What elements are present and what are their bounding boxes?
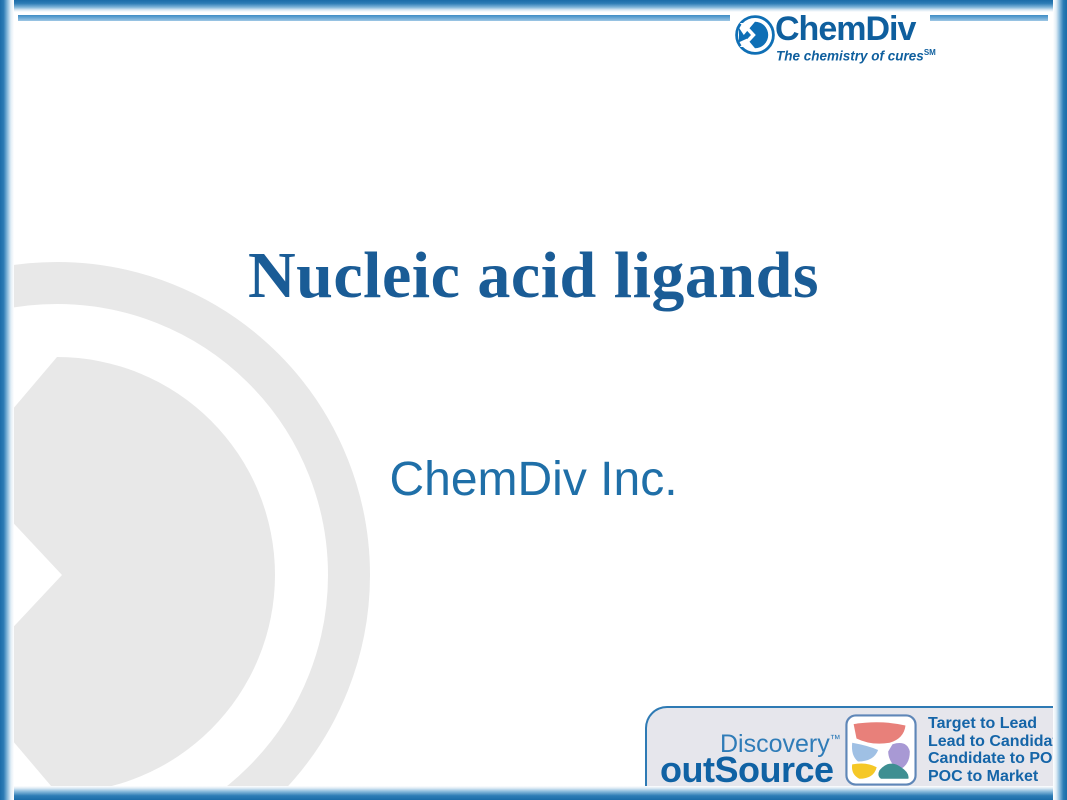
brand-service-mark: SM: [924, 48, 936, 57]
header-rule-left: [18, 15, 730, 21]
header-rule-right: [930, 15, 1048, 21]
phase-list: Target to Lead Lead to Candidate Candida…: [928, 715, 1067, 785]
phase-item: Candidate to POC: [928, 750, 1067, 768]
phase-item: POC to Market: [928, 768, 1067, 786]
discovery-trademark: ™: [830, 734, 841, 746]
phase-item: Lead to Candidate: [928, 733, 1067, 751]
mosaic-tiles-icon: [845, 714, 917, 786]
chemdiv-brand-logo: ChemDiv The chemistry of curesSM: [735, 12, 935, 68]
outsource-label: outSource: [660, 749, 834, 791]
discovery-outsource-banner: Discovery™ outSource Target to Lead Lead…: [645, 706, 1057, 788]
presentation-slide: ChemDiv The chemistry of curesSM Nucleic…: [0, 0, 1067, 800]
frame-top-edge: [0, 0, 1067, 12]
frame-bottom-edge: [0, 786, 1067, 800]
brand-tagline-text: The chemistry of cures: [776, 49, 924, 64]
slide-title: Nucleic acid ligands: [0, 238, 1067, 314]
chemdiv-logo-watermark-icon: [0, 250, 382, 800]
brand-name: ChemDiv: [775, 10, 915, 49]
phase-item: Target to Lead: [928, 715, 1067, 733]
brand-tagline: The chemistry of curesSM: [776, 48, 936, 64]
frame-left-edge: [0, 0, 14, 800]
frame-right-edge: [1053, 0, 1067, 800]
slide-subtitle: ChemDiv Inc.: [0, 452, 1067, 507]
chemdiv-circle-logo-icon: [735, 15, 775, 55]
